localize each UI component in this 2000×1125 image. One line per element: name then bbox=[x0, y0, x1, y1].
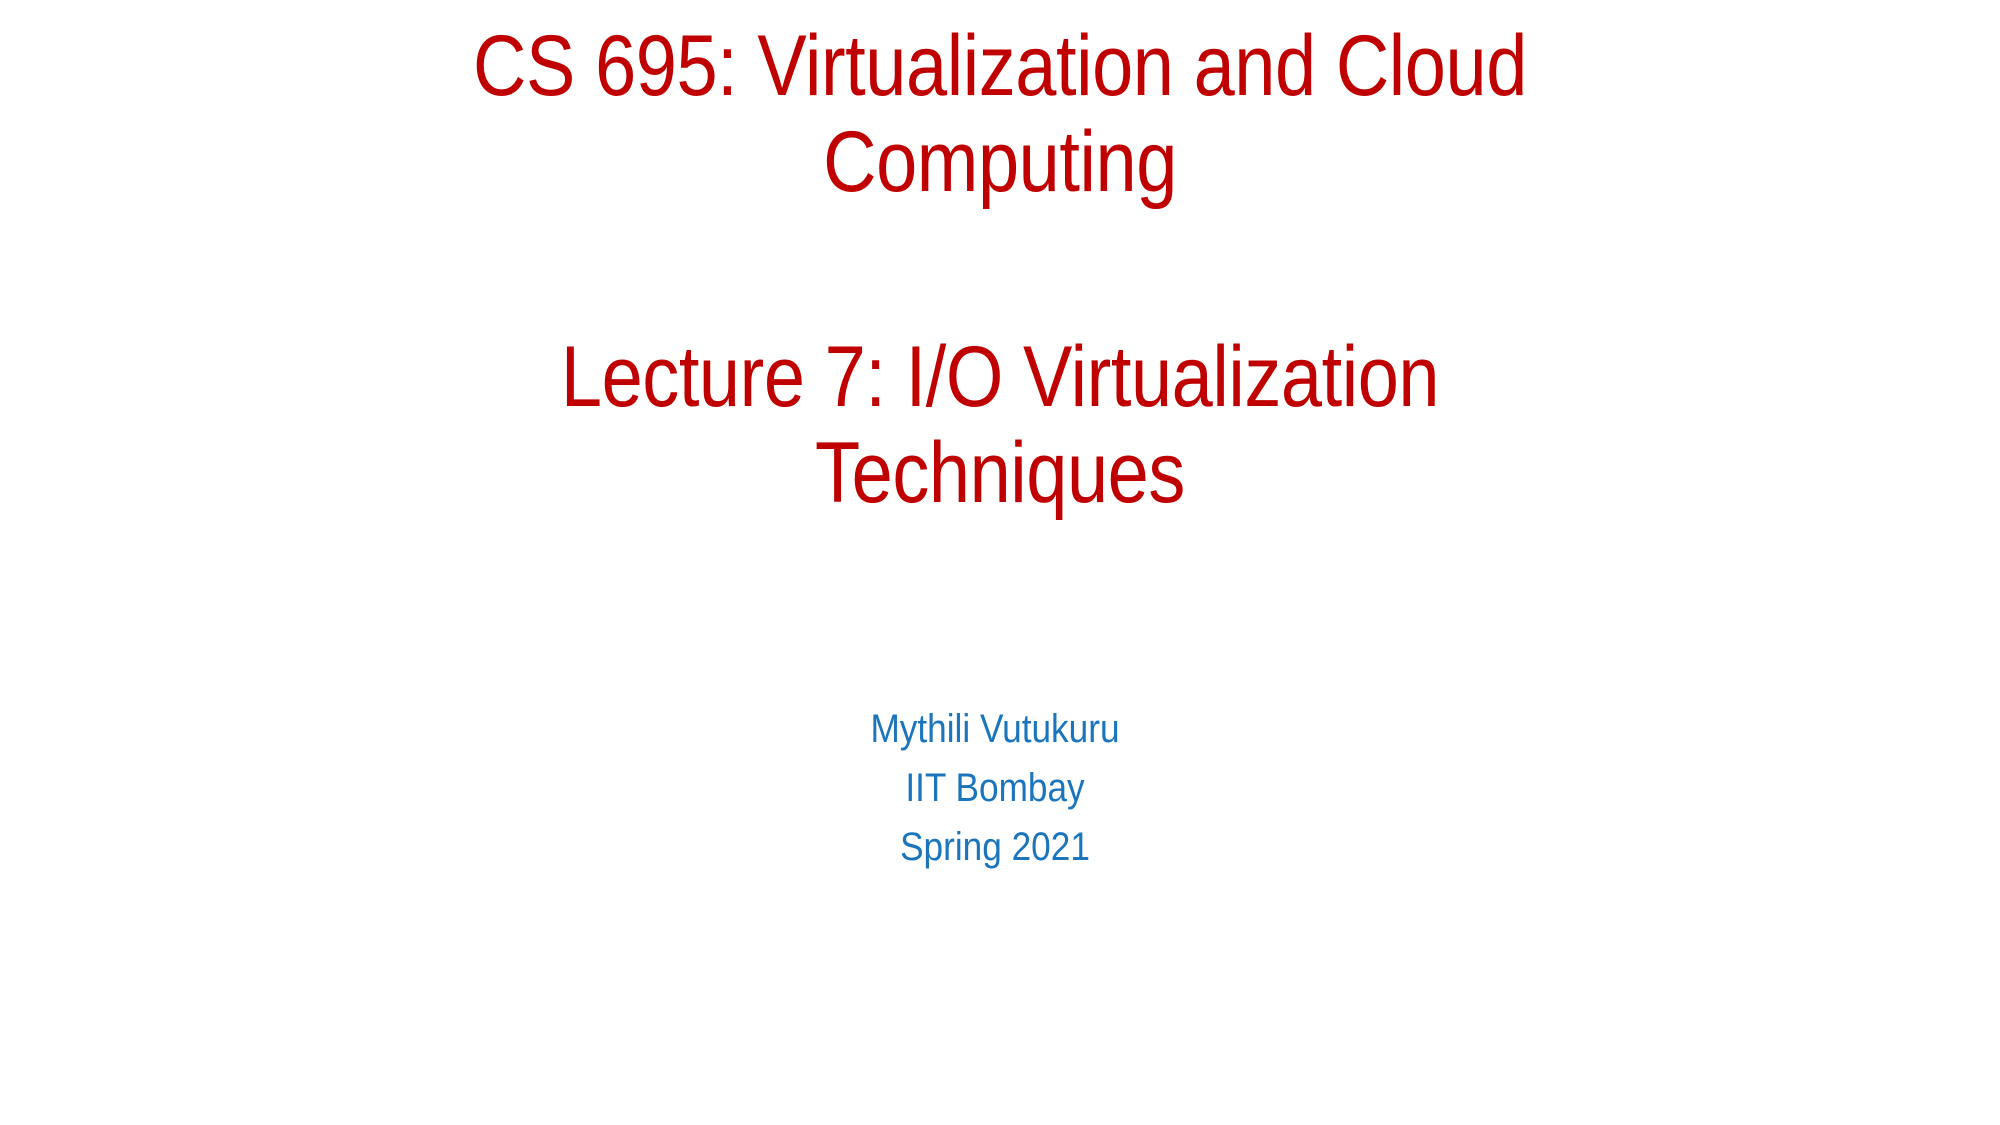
slide-subtitle-placeholder[interactable]: Mythili Vutukuru IIT Bombay Spring 2021 bbox=[170, 700, 1820, 878]
lecture-title-line-2: Techniques bbox=[286, 425, 1714, 521]
author-name: Mythili Vutukuru bbox=[269, 700, 1721, 759]
lecture-title-line-1: Lecture 7: I/O Virtualization bbox=[286, 329, 1714, 425]
title-blank-line bbox=[170, 211, 1830, 329]
affiliation: IIT Bombay bbox=[269, 759, 1721, 818]
title-slide: CS 695: Virtualization and Cloud Computi… bbox=[0, 0, 2000, 1125]
course-title: CS 695: Virtualization and Cloud Computi… bbox=[170, 18, 1830, 211]
lecture-title: Lecture 7: I/O Virtualization Techniques bbox=[170, 329, 1830, 522]
course-title-line-1: CS 695: Virtualization and Cloud bbox=[286, 18, 1714, 114]
slide-title-placeholder[interactable]: CS 695: Virtualization and Cloud Computi… bbox=[170, 18, 1830, 521]
course-title-line-2: Computing bbox=[286, 114, 1714, 210]
term: Spring 2021 bbox=[269, 818, 1721, 877]
